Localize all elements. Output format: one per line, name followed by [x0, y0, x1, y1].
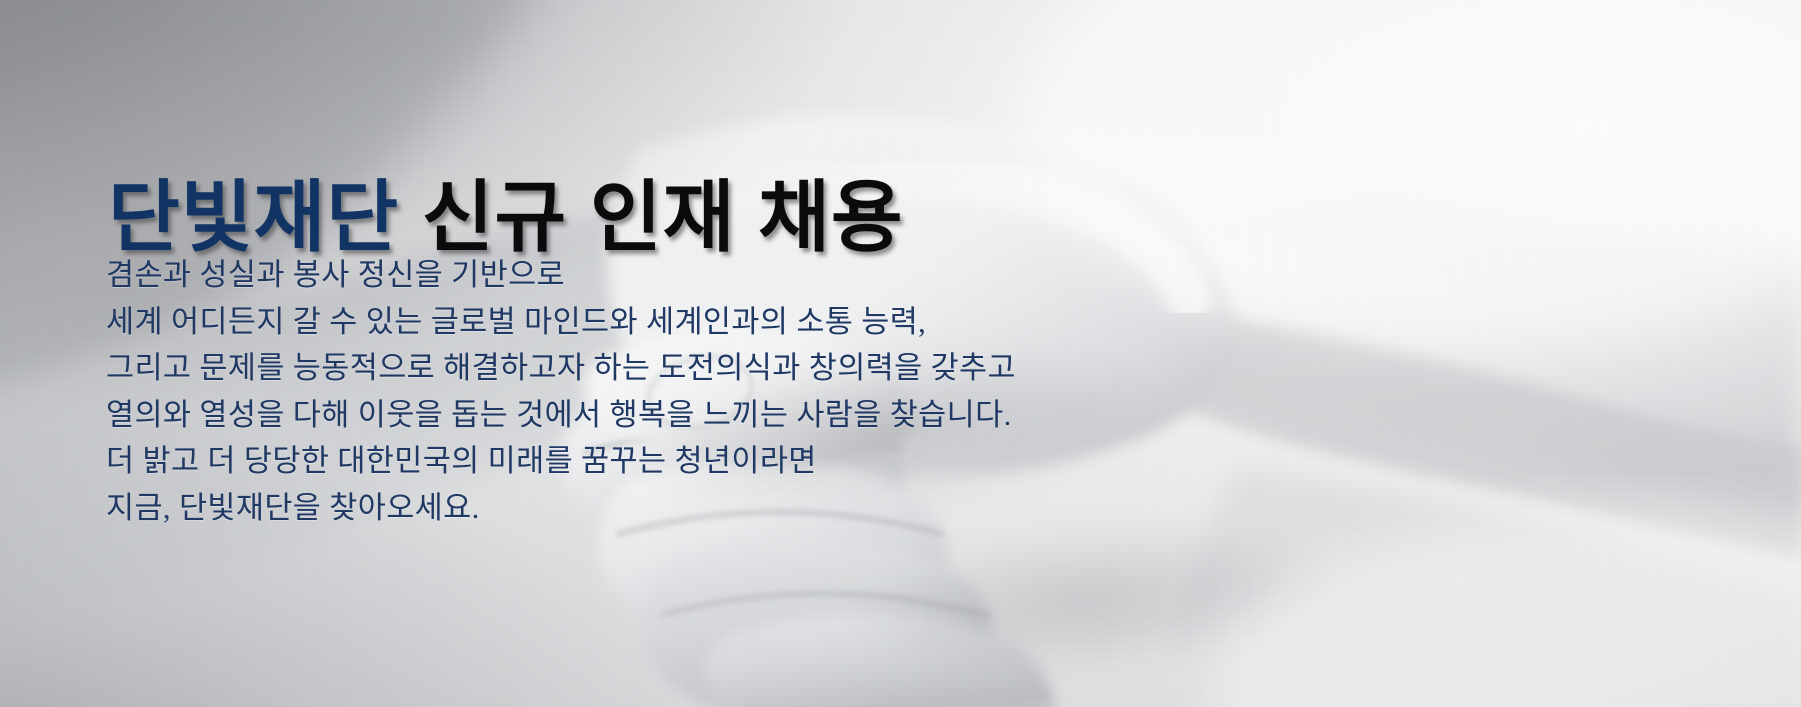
- message-line-5: 더 밝고 더 당당한 대한민국의 미래를 꿈꾸는 청년이라면: [106, 438, 1016, 485]
- title-brand-name: 단빛재단: [108, 173, 399, 261]
- recruitment-banner: 단빛재단 신규 인재 채용 겸손과 성실과 봉사 정신을 기반으로 세계 어디든…: [0, 0, 1801, 707]
- banner-content: 단빛재단 신규 인재 채용 겸손과 성실과 봉사 정신을 기반으로 세계 어디든…: [0, 0, 1801, 707]
- message-line-4: 열의와 열성을 다해 이웃을 돕는 것에서 행복을 느끼는 사람을 찾습니다.: [106, 392, 1016, 439]
- title-rest: 신규 인재 채용: [422, 173, 904, 261]
- title-separator: [399, 173, 422, 261]
- message-line-2: 세계 어디든지 갈 수 있는 글로벌 마인드와 세계인과의 소통 능력,: [106, 299, 1016, 346]
- recruitment-message: 겸손과 성실과 봉사 정신을 기반으로 세계 어디든지 갈 수 있는 글로벌 마…: [106, 252, 1016, 531]
- message-line-1: 겸손과 성실과 봉사 정신을 기반으로: [106, 252, 1016, 299]
- message-line-3: 그리고 문제를 능동적으로 해결하고자 하는 도전의식과 창의력을 갖추고: [106, 345, 1016, 392]
- page-title: 단빛재단 신규 인재 채용: [108, 178, 904, 256]
- message-line-6: 지금, 단빛재단을 찾아오세요.: [106, 485, 1016, 532]
